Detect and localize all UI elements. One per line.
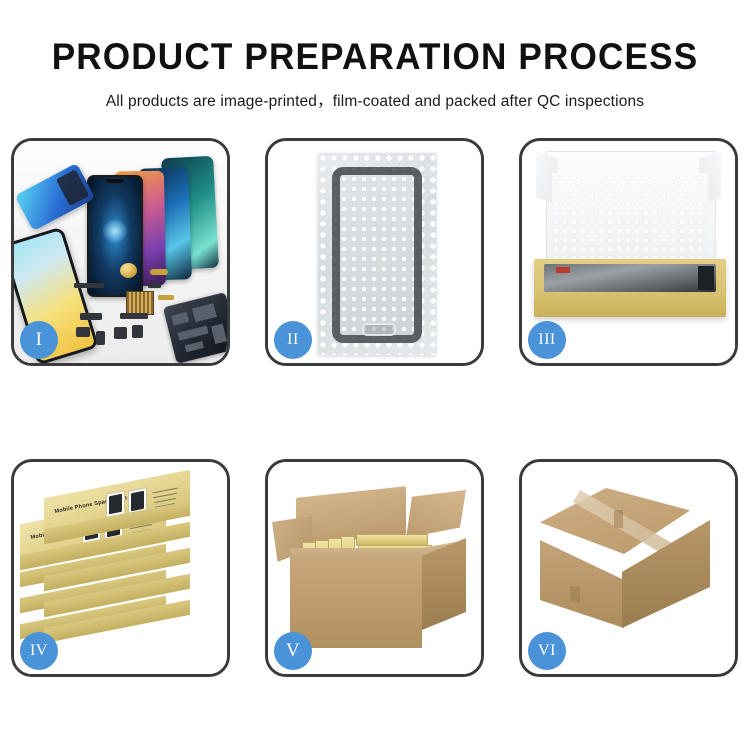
process-steps-grid: I II bbox=[11, 138, 739, 678]
bubble-wrap-icon bbox=[318, 153, 436, 355]
step-badge-2: II bbox=[274, 321, 312, 359]
step-badge-3: III bbox=[528, 321, 566, 359]
step-badge-1: I bbox=[20, 321, 58, 359]
step-panel-6: VI bbox=[519, 459, 738, 677]
screen-glass-icon bbox=[332, 167, 422, 343]
packed-product-icon bbox=[544, 264, 716, 292]
yellow-box-tray-icon bbox=[534, 259, 726, 317]
logic-board-icon bbox=[163, 292, 227, 363]
part-block-icon bbox=[76, 327, 90, 337]
step-badge-5: V bbox=[274, 632, 312, 670]
part-camera-icon bbox=[96, 331, 105, 345]
step-numeral: V bbox=[286, 640, 300, 662]
spare-parts-cluster bbox=[74, 261, 227, 359]
step-panel-4: Mobile Phone Spare Parts bbox=[11, 459, 230, 677]
page-subtitle: All products are image-printed，film-coat… bbox=[0, 89, 750, 111]
step-panel-2: II bbox=[265, 138, 484, 366]
step-numeral: III bbox=[538, 331, 555, 349]
speaker-part-icon bbox=[120, 263, 137, 278]
step-badge-6: VI bbox=[528, 632, 566, 670]
step-numeral: I bbox=[36, 329, 43, 351]
carton-flap-right-icon bbox=[406, 490, 466, 538]
home-button-icon bbox=[362, 323, 396, 336]
part-button-icon bbox=[114, 327, 127, 339]
step-panel-3: III bbox=[519, 138, 738, 366]
product-preparation-infographic: PRODUCT PREPARATION PROCESS All products… bbox=[0, 0, 750, 750]
part-strip-icon bbox=[74, 283, 104, 288]
page-title: PRODUCT PREPARATION PROCESS bbox=[19, 38, 732, 75]
contact-strip-icon bbox=[158, 295, 174, 300]
step-numeral: II bbox=[287, 331, 299, 349]
chip-part-icon bbox=[126, 291, 154, 315]
phone-notch-icon bbox=[106, 179, 124, 183]
step-panel-5: V bbox=[265, 459, 484, 677]
foam-padding-icon bbox=[552, 173, 708, 265]
step-numeral: VI bbox=[538, 642, 556, 660]
step-panel-1: I bbox=[11, 138, 230, 366]
flex-cable-icon bbox=[150, 269, 168, 275]
carton-seam-icon bbox=[614, 510, 623, 528]
step-badge-4: IV bbox=[20, 632, 58, 670]
header: PRODUCT PREPARATION PROCESS All products… bbox=[0, 0, 750, 111]
part-connector-icon bbox=[80, 313, 102, 320]
step-numeral: IV bbox=[30, 642, 48, 660]
carton-front-icon bbox=[290, 556, 422, 648]
part-sensor-icon bbox=[148, 283, 161, 288]
part-bracket-icon bbox=[132, 325, 143, 338]
part-rail-icon bbox=[120, 313, 148, 319]
carton-seam-icon bbox=[570, 586, 580, 602]
